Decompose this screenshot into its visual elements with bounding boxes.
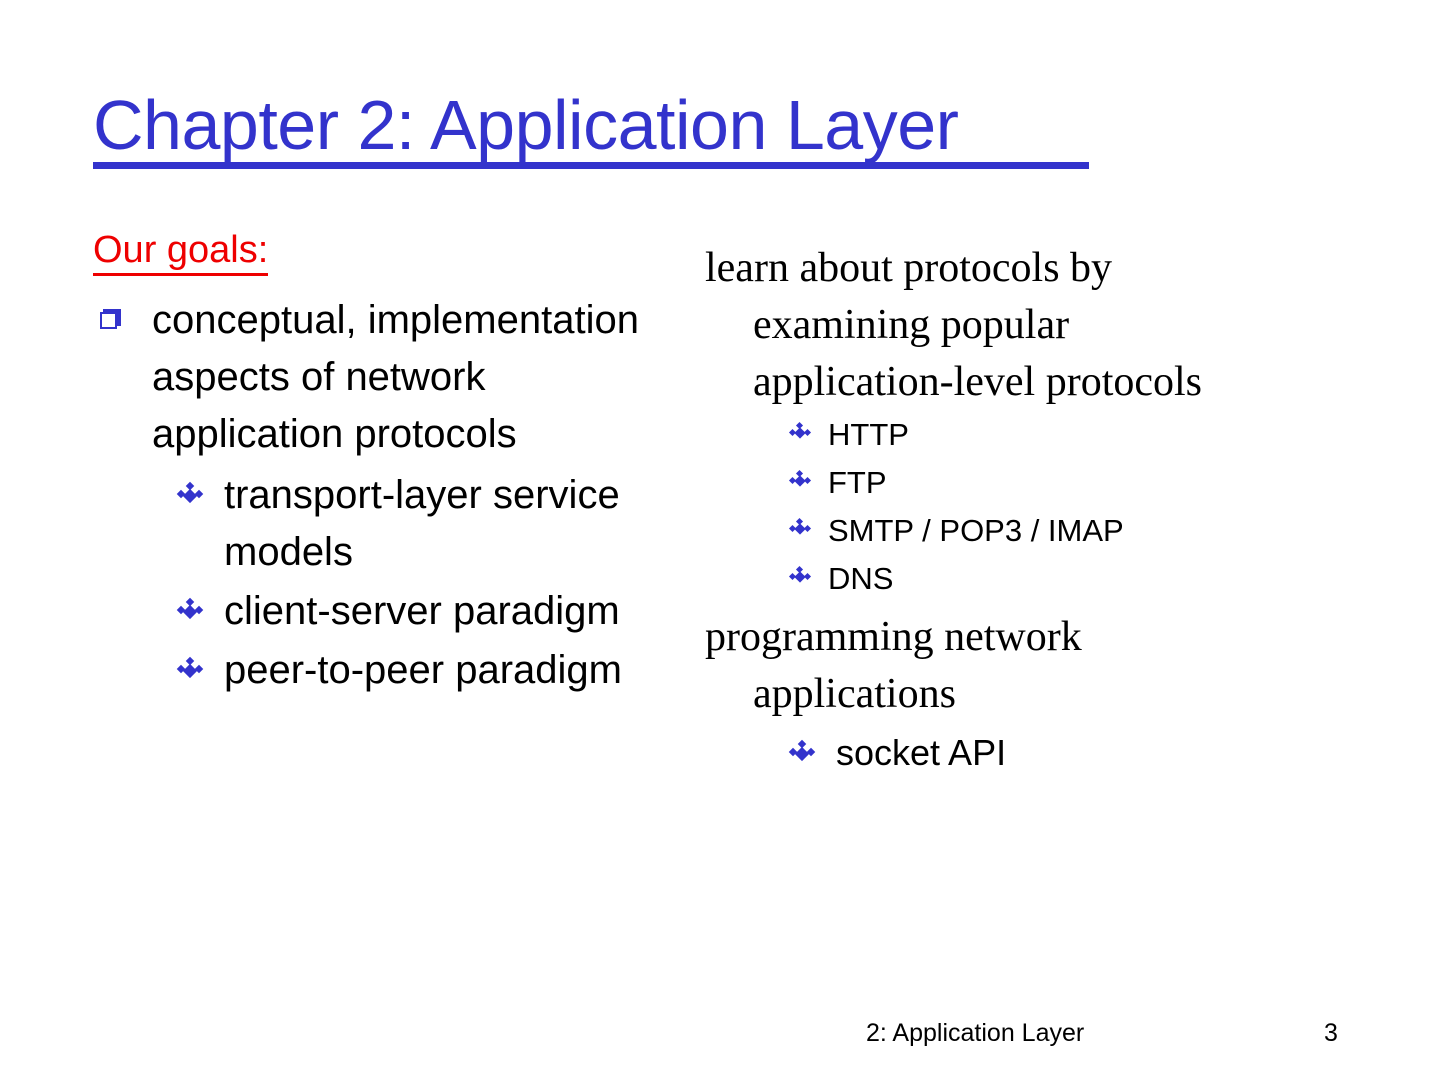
list-item-protocol-label: HTTP — [828, 417, 909, 452]
diamond-bullet-icon — [790, 472, 810, 490]
left-column: Our goals: conceptual, implementation as… — [93, 228, 653, 701]
diamond-bullet-icon — [790, 424, 810, 442]
right-column: learn about protocols by examining popul… — [705, 240, 1265, 779]
our-goals-heading: Our goals: — [93, 228, 268, 276]
diamond-bullet-icon — [790, 743, 814, 765]
list-item-level2-label: peer-to-peer paradigm — [224, 648, 622, 692]
list-item-protocol-label: DNS — [828, 561, 893, 596]
box-bullet-icon — [100, 309, 122, 331]
list-item-protocol: SMTP / POP3 / IMAP — [790, 507, 1265, 555]
page-title: Chapter 2: Application Layer — [93, 88, 958, 162]
list-item-level2: peer-to-peer paradigm — [178, 642, 653, 699]
list-item-socket-api-label: socket API — [836, 732, 1006, 773]
right-paragraph-protocols: learn about protocols by examining popul… — [705, 240, 1253, 411]
list-item-protocol-label: SMTP / POP3 / IMAP — [828, 513, 1124, 548]
diamond-bullet-icon — [178, 601, 202, 623]
slide-canvas: Chapter 2: Application Layer Our goals: … — [0, 0, 1440, 1080]
list-item-level2: transport-layer service models — [178, 467, 653, 581]
list-item-level1: conceptual, implementation aspects of ne… — [93, 292, 653, 463]
title-underline — [93, 162, 1089, 169]
list-item-level1-label: conceptual, implementation aspects of ne… — [152, 298, 639, 456]
list-item-protocol: FTP — [790, 459, 1265, 507]
diamond-bullet-icon — [178, 660, 202, 682]
list-item-protocol: DNS — [790, 555, 1265, 603]
diamond-bullet-icon — [790, 568, 810, 586]
list-item-socket-api: socket API — [790, 727, 1265, 779]
diamond-bullet-icon — [790, 520, 810, 538]
footer-page-number: 3 — [1324, 1018, 1338, 1048]
right-paragraph-programming: programming network applications — [705, 609, 1253, 723]
list-item-level2-label: client-server paradigm — [224, 589, 620, 633]
list-item-level2: client-server paradigm — [178, 583, 653, 640]
diamond-bullet-icon — [178, 485, 202, 507]
footer-label: 2: Application Layer — [866, 1018, 1084, 1048]
list-item-protocol-label: FTP — [828, 465, 887, 500]
list-item-protocol: HTTP — [790, 411, 1265, 459]
list-item-level2-label: transport-layer service models — [224, 473, 620, 574]
